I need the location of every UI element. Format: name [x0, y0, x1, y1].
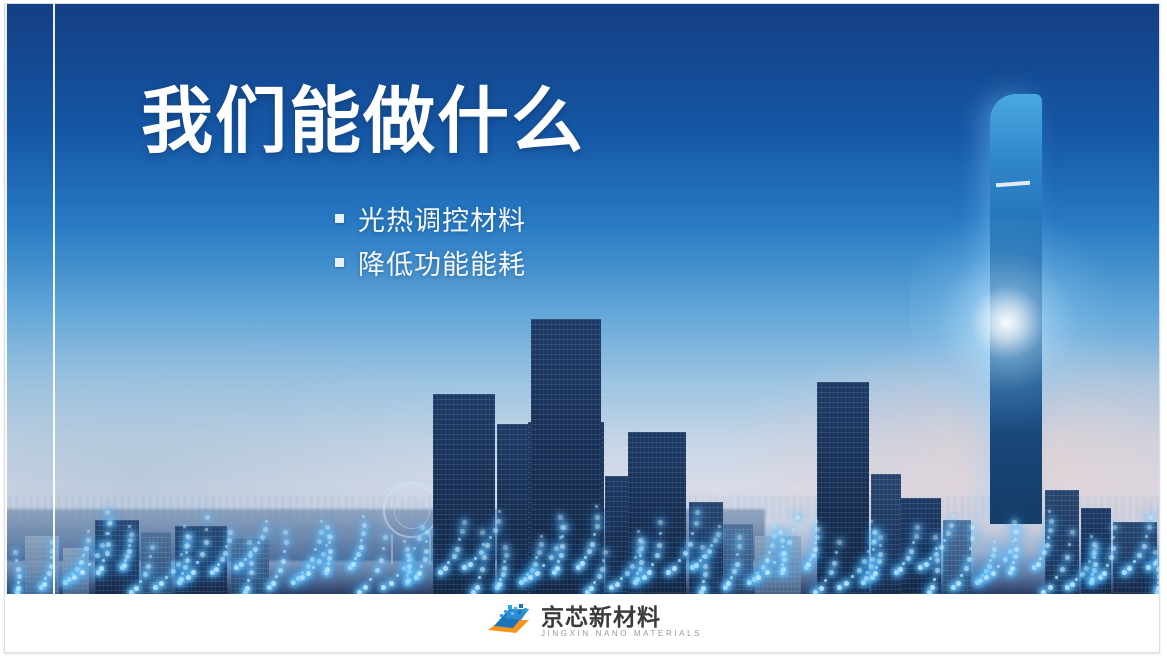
logo-company-name-cn: 京芯新材料	[541, 606, 702, 629]
network-glow-dot	[991, 553, 996, 558]
building-far-left-b	[63, 548, 89, 594]
network-glow-dot	[1003, 557, 1008, 562]
network-glow-dot	[420, 565, 423, 568]
building-skyscraper-center-top	[531, 319, 601, 594]
building-left-d	[231, 538, 269, 594]
window-grid	[1113, 522, 1157, 594]
network-glow-dot	[296, 576, 301, 581]
network-glow-dot	[363, 585, 368, 590]
company-logo: 京芯新材料 JINGXIN NANO MATERIALS	[485, 603, 702, 641]
left-accent-rule	[53, 4, 55, 594]
network-glow-dot	[291, 580, 296, 585]
network-glow-dot	[406, 574, 409, 577]
network-glow-dot	[396, 574, 399, 577]
logo-wordmark: 京芯新材料 JINGXIN NANO MATERIALS	[541, 606, 702, 638]
network-glow-dot	[405, 580, 410, 585]
network-glow-dot	[997, 565, 1000, 568]
list-item: 光热调控材料	[335, 196, 526, 240]
window-grid	[817, 382, 869, 594]
network-glow-dot	[1032, 565, 1037, 570]
window-grid	[141, 532, 171, 594]
building-tower-h	[755, 536, 801, 594]
ferris-wheel-support	[391, 534, 431, 564]
signature-curved-skyscraper	[990, 94, 1042, 524]
building-right-tower-f	[1081, 508, 1111, 594]
network-glow-dot	[1008, 549, 1013, 554]
tower-light-band	[996, 181, 1030, 187]
bullet-list: 光热调控材料 降低功能能耗	[335, 196, 526, 284]
window-grid	[95, 520, 139, 594]
bullet-label: 降低功能能耗	[358, 243, 526, 282]
network-glow-dot	[989, 559, 992, 562]
network-glow-dot	[1014, 547, 1019, 552]
network-glow-dot	[1010, 566, 1015, 571]
hero-background-image: 我们能做什么 光热调控材料 降低功能能耗	[5, 4, 1159, 594]
network-glow-dot	[804, 565, 809, 570]
slide-frame: 我们能做什么 光热调控材料 降低功能能耗	[4, 3, 1160, 653]
network-glow-dot	[1036, 562, 1041, 567]
building-left-b	[141, 532, 171, 594]
network-glow-dot	[414, 575, 419, 580]
network-glow-dot	[306, 564, 311, 569]
jingxin-pixel-logo-icon	[485, 603, 532, 641]
window-grid	[231, 538, 269, 594]
network-glow-dot	[351, 562, 356, 567]
page-title: 我们能做什么	[141, 80, 585, 165]
window-grid	[901, 498, 941, 594]
window-grid	[723, 524, 753, 594]
building-right-tower-e	[1045, 490, 1079, 594]
building-tower-e	[628, 432, 686, 594]
network-glow-dot	[981, 574, 984, 577]
slide-canvas: 我们能做什么 光热调控材料 降低功能能耗	[0, 0, 1167, 661]
network-glow-dot	[407, 569, 412, 574]
window-grid	[433, 394, 495, 594]
network-glow-dot	[991, 571, 996, 576]
building-tower-a	[433, 394, 495, 594]
network-glow-dot	[275, 575, 278, 578]
network-glow-dot	[389, 581, 394, 586]
building-right-tower-d	[943, 520, 971, 594]
network-glow-dot	[406, 578, 411, 583]
building-right-tower-g	[1113, 522, 1157, 594]
network-glow-dot	[984, 569, 989, 574]
network-glow-dot	[327, 562, 330, 565]
network-glow-dot	[312, 566, 315, 569]
window-grid	[689, 502, 723, 594]
network-glow-dot	[381, 585, 386, 590]
ferris-wheel-icon	[383, 482, 439, 538]
left-edge-rule	[5, 4, 7, 594]
network-glow-dot	[992, 547, 997, 552]
network-glow-dot	[978, 578, 983, 583]
network-glow-dot	[271, 581, 276, 586]
window-grid	[63, 548, 89, 594]
network-glow-dot	[1157, 574, 1159, 579]
building-right-tower-a	[817, 382, 869, 594]
logo-company-name-en: JINGXIN NANO MATERIALS	[541, 630, 702, 638]
network-glow-dot	[984, 575, 989, 580]
slide-footer: 京芯新材料 JINGXIN NANO MATERIALS	[5, 594, 1159, 652]
window-grid	[943, 520, 971, 594]
network-glow-dot	[993, 540, 996, 543]
network-glow-dot	[16, 567, 21, 572]
network-glow-dot	[1012, 561, 1015, 564]
list-item: 降低功能能耗	[335, 240, 526, 284]
network-glow-dot	[1012, 540, 1015, 543]
window-grid	[1081, 508, 1111, 594]
network-glow-dot	[1013, 554, 1018, 559]
network-glow-dot	[1008, 570, 1013, 575]
network-glow-dot	[300, 575, 305, 580]
network-glow-dot	[348, 565, 353, 570]
building-left-a	[95, 520, 139, 594]
window-grid	[628, 432, 686, 594]
network-glow-dot	[809, 558, 812, 561]
window-grid	[871, 474, 901, 594]
network-glow-dot	[407, 564, 412, 569]
network-glow-dot	[17, 574, 22, 579]
network-glow-dot	[278, 568, 283, 573]
network-glow-dot	[811, 553, 816, 558]
network-glow-dot	[987, 564, 992, 569]
square-bullet-icon	[335, 214, 344, 223]
window-grid	[175, 526, 227, 594]
window-grid	[755, 536, 801, 594]
network-glow-dot	[17, 581, 20, 584]
network-glow-dot	[369, 578, 372, 581]
network-glow-dot	[306, 571, 311, 576]
building-right-tower-b	[871, 474, 901, 594]
network-glow-dot	[417, 571, 422, 576]
network-glow-dot	[806, 562, 811, 567]
network-glow-dot	[402, 566, 407, 571]
building-tower-g	[723, 524, 753, 594]
window-grid	[1045, 490, 1079, 594]
network-glow-dot	[16, 586, 21, 591]
network-glow-dot	[1014, 538, 1017, 541]
network-glow-dot	[325, 567, 330, 572]
network-glow-dot	[375, 568, 380, 573]
square-bullet-icon	[335, 258, 344, 267]
network-glow-dot	[1039, 557, 1042, 560]
network-glow-dot	[975, 580, 980, 585]
bullet-label: 光热调控材料	[358, 199, 526, 238]
building-left-c	[175, 526, 227, 594]
network-glow-dot	[324, 570, 329, 575]
building-tower-f	[689, 502, 723, 594]
network-glow-dot	[301, 571, 304, 574]
building-right-tower-c	[901, 498, 941, 594]
window-grid	[531, 319, 601, 594]
